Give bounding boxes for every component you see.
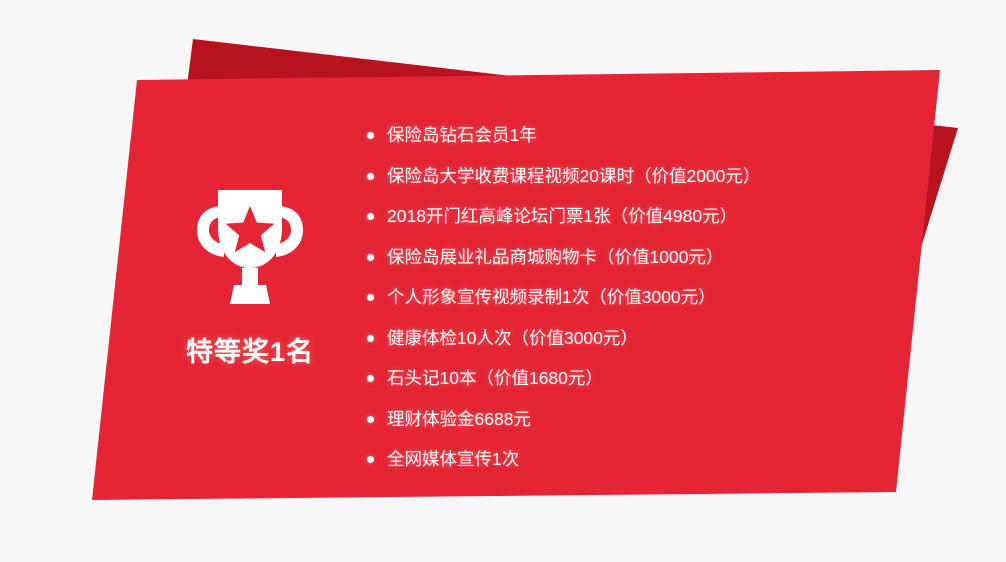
prize-list-item-label: 保险岛大学收费课程视频20课时（价值2000元） <box>387 166 760 186</box>
award-block: 特等奖1名 <box>152 182 348 368</box>
prize-list-item: 保险岛钻石会员1年 <box>366 124 926 146</box>
bullet-icon <box>367 132 374 139</box>
prize-list-item: 个人形象宣传视频录制1次（价值3000元） <box>366 286 926 308</box>
prize-list-item-label: 全网媒体宣传1次 <box>387 449 519 469</box>
prize-list-item-label: 理财体验金6688元 <box>387 409 531 429</box>
prize-list-item: 全网媒体宣传1次 <box>366 448 926 470</box>
bullet-icon <box>367 456 374 463</box>
bullet-icon <box>367 294 374 301</box>
prize-card-stage: 特等奖1名 保险岛钻石会员1年保险岛大学收费课程视频20课时（价值2000元）2… <box>0 0 1006 562</box>
prize-list-item: 石头记10本（价值1680元） <box>366 367 926 389</box>
trophy-icon <box>194 182 306 304</box>
prize-list-item-label: 个人形象宣传视频录制1次（价值3000元） <box>387 287 716 307</box>
prize-list-item: 健康体检10人次（价值3000元） <box>366 327 926 349</box>
prize-list-item-label: 保险岛展业礼品商城购物卡（价值1000元） <box>387 247 723 267</box>
bullet-icon <box>367 254 374 261</box>
prize-list-item-label: 健康体检10人次（价值3000元） <box>387 328 638 348</box>
prize-list-item: 2018开门红高峰论坛门票1张（价值4980元） <box>366 205 926 227</box>
prize-list-item-label: 2018开门红高峰论坛门票1张（价值4980元） <box>387 206 737 226</box>
prize-list-item: 理财体验金6688元 <box>366 408 926 430</box>
prize-list-item: 保险岛展业礼品商城购物卡（价值1000元） <box>366 246 926 268</box>
prize-list: 保险岛钻石会员1年保险岛大学收费课程视频20课时（价值2000元）2018开门红… <box>366 124 926 470</box>
award-title: 特等奖1名 <box>152 336 348 368</box>
bullet-icon <box>367 375 374 382</box>
bullet-icon <box>367 335 374 342</box>
bullet-icon <box>367 416 374 423</box>
prize-list-item: 保险岛大学收费课程视频20课时（价值2000元） <box>366 165 926 187</box>
prize-list-item-label: 保险岛钻石会员1年 <box>387 125 537 145</box>
bullet-icon <box>367 173 374 180</box>
prize-list-item-label: 石头记10本（价值1680元） <box>387 368 603 388</box>
bullet-icon <box>367 213 374 220</box>
